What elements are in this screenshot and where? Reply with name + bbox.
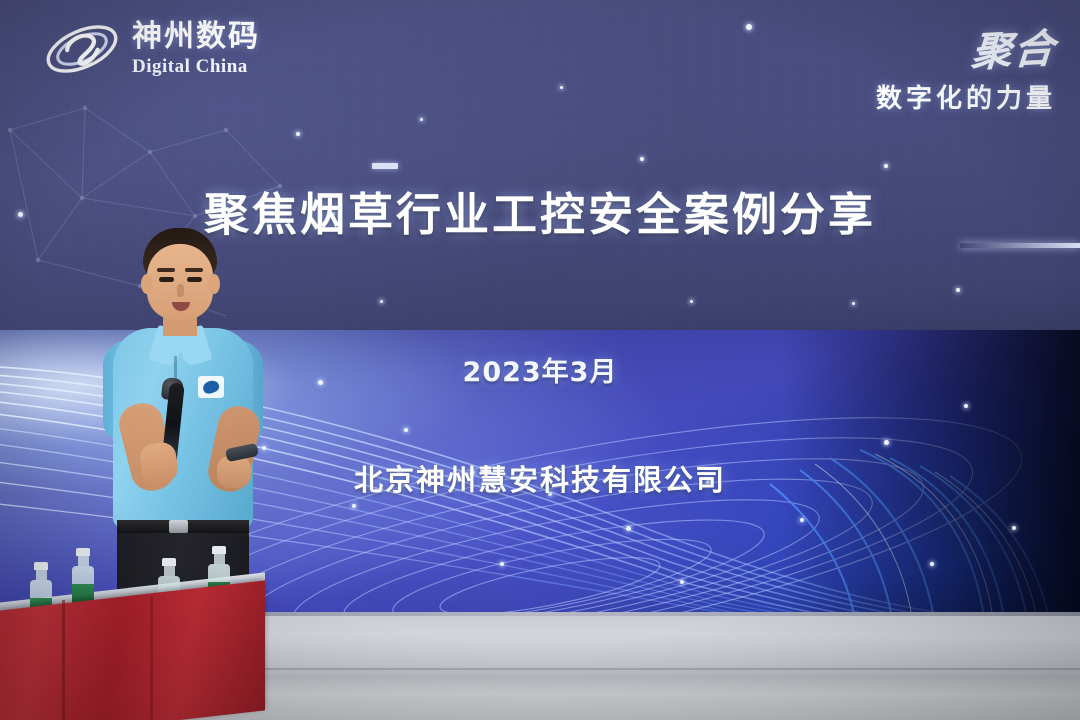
title-accent-dash [372, 163, 398, 169]
digital-china-chinese-name: 神州数码 [132, 22, 260, 52]
wave-particle [500, 562, 504, 566]
bottle-cap [162, 558, 176, 566]
digital-china-english-name: Digital China [132, 57, 260, 76]
light-particle [420, 118, 423, 121]
light-particle [884, 164, 888, 168]
light-particle [640, 157, 644, 161]
light-particle [296, 132, 300, 136]
speaker-figure [95, 228, 285, 618]
speaker-eyebrow-left [157, 268, 175, 272]
wave-particle [930, 562, 934, 566]
digital-china-wordmark: 神州数码 Digital China [132, 22, 260, 76]
speaker-nose [177, 284, 184, 297]
event-logo-subtitle: 数字化的力量 [876, 78, 1056, 115]
wave-particle [404, 428, 408, 432]
wave-particle [1012, 526, 1016, 530]
bottle-neck [36, 570, 47, 580]
wave-particle [626, 526, 631, 531]
speaker-eye-left [159, 277, 174, 282]
bottle-cap [212, 546, 226, 554]
light-particle [956, 288, 960, 292]
speaker-left-hand [138, 441, 179, 486]
light-particle [852, 302, 855, 305]
light-particle [746, 24, 752, 30]
wave-particle [352, 504, 356, 508]
event-calligraphy-juhe: 聚合 [970, 16, 1059, 78]
digital-china-swirl-icon [42, 18, 122, 80]
stage-photo: 聚焦烟草行业工控安全案例分享 2023年3月 北京神州慧安科技有限公司 神州数码… [0, 0, 1080, 720]
bottle-cap [34, 562, 48, 570]
event-logo: 聚合 数字化的力量 [876, 18, 1056, 115]
light-particle [560, 86, 563, 89]
speaker-ear-left [141, 274, 153, 294]
digital-china-logo: 神州数码 Digital China [42, 18, 260, 80]
wave-particle [964, 404, 968, 408]
speaker-belt-buckle [169, 520, 188, 533]
speaker-eyebrow-right [185, 268, 203, 272]
table-cloth-fold [62, 600, 65, 720]
wave-particle [800, 518, 804, 522]
wave-particle [680, 580, 684, 584]
light-streak-right [960, 243, 1080, 248]
bottle-neck [164, 566, 175, 576]
bottle-neck [78, 556, 89, 566]
speaker-ear-right [208, 274, 220, 294]
bottle-neck [214, 554, 225, 564]
speaker-chest-logo-patch [198, 376, 224, 398]
speaker-eye-right [187, 277, 202, 282]
light-particle [690, 300, 693, 303]
bottle-cap [76, 548, 90, 556]
wave-particle [884, 440, 889, 445]
table-cloth-fold [150, 596, 153, 720]
light-particle [380, 300, 383, 303]
